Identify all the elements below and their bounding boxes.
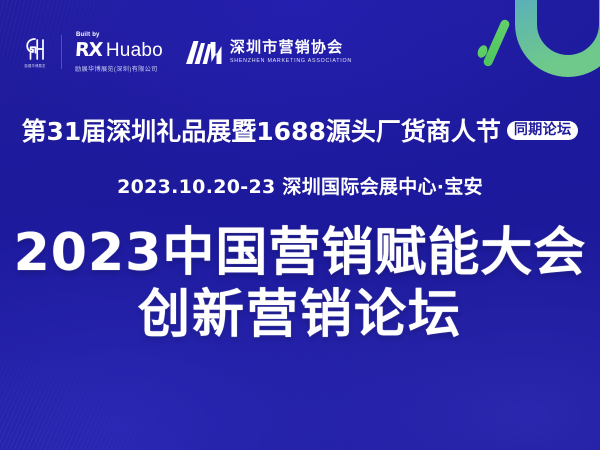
rx-mark-label: RX xyxy=(74,39,102,61)
rx-built-by-label: Built by xyxy=(76,32,163,38)
event-poster: 励展华博展览 Built by RX Huabo 励展华博展览(深圳)有限公司 xyxy=(0,0,600,450)
main-headline: 2023中国营销赋能大会 创新营销论坛 xyxy=(0,222,600,346)
shenzhen-marketing-association-logo: 深圳市营销协会 SHENZHEN MARKETING ASSOCIATION xyxy=(184,37,350,67)
gradient-arc-decoration xyxy=(502,0,600,86)
gh-monogram-logo: 励展华博展览 xyxy=(22,28,48,76)
gh-monogram-icon xyxy=(24,36,46,62)
gh-logo-chinese-label: 励展华博展览 xyxy=(25,64,46,68)
main-headline-line-1: 2023中国营销赋能大会 xyxy=(0,222,600,284)
main-headline-line-2: 创新营销论坛 xyxy=(0,284,600,346)
rx-company-chinese-label: 励展华博展览(深圳)有限公司 xyxy=(75,64,163,73)
logo-bar: 励展华博展览 Built by RX Huabo 励展华博展览(深圳)有限公司 xyxy=(22,26,349,78)
rx-huabo-word-label: Huabo xyxy=(106,40,163,62)
logo-divider xyxy=(61,35,62,69)
sma-english-label: SHENZHEN MARKETING ASSOCIATION xyxy=(230,58,352,64)
event-date-venue: 2023.10.20-23 深圳国际会展中心·宝安 xyxy=(0,172,600,199)
event-title-row: 第31届深圳礼品展暨1688源头厂货商人节 同期论坛 xyxy=(0,112,600,148)
event-title: 第31届深圳礼品展暨1688源头厂货商人节 xyxy=(22,112,501,148)
sma-mark-icon xyxy=(184,37,224,67)
concurrent-forum-badge: 同期论坛 xyxy=(507,121,579,140)
sma-chinese-label: 深圳市营销协会 xyxy=(230,40,350,56)
rx-huabo-logo: Built by RX Huabo 励展华博展览(深圳)有限公司 xyxy=(75,32,163,73)
